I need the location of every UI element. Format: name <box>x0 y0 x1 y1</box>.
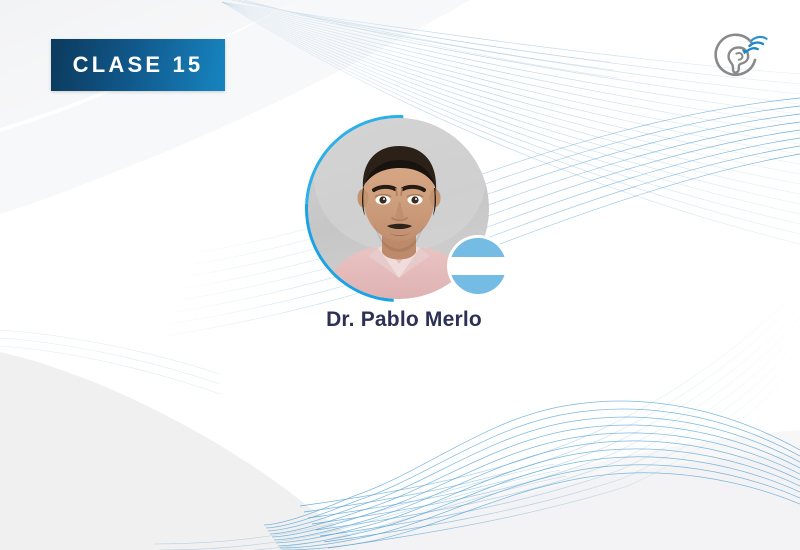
class-banner-label: CLASE 15 <box>73 54 204 76</box>
ear-audiology-logo <box>707 28 769 90</box>
country-flag-badge-argentina <box>450 238 506 294</box>
flag-stripe-top <box>450 238 506 257</box>
slide-canvas: CLASE 15 <box>0 0 800 550</box>
flag-stripe-bottom <box>450 275 506 294</box>
speaker-block: Dr. Pablo Merlo <box>308 118 500 333</box>
class-banner: CLASE 15 <box>51 39 225 91</box>
ear-logo-icon <box>707 28 769 90</box>
speaker-name: Dr. Pablo Merlo <box>244 308 564 332</box>
avatar <box>308 118 489 299</box>
flag-stripe-middle <box>450 257 506 276</box>
